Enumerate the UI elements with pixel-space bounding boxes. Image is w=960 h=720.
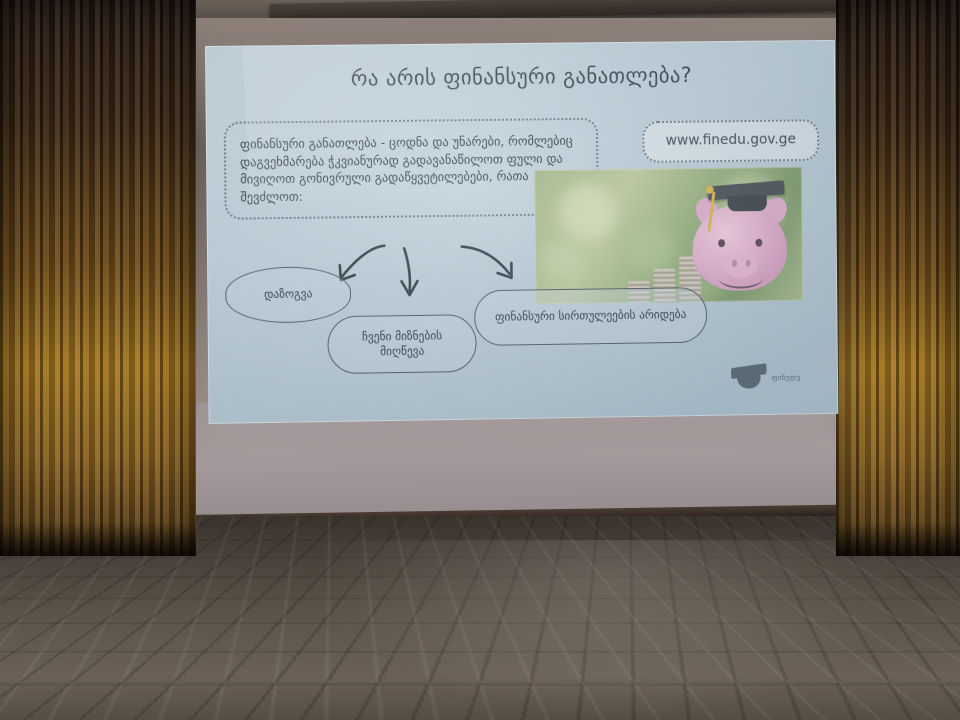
website-url-box[interactable]: www.finedu.gov.ge: [642, 119, 819, 162]
bubble-reaching-goals: ჩვენი მიზნების მიღწევა: [327, 314, 476, 374]
piggy-bank-with-graduation-cap-photo: [534, 167, 803, 304]
graduation-cap-base: [728, 195, 767, 211]
curtain-left-hem: [0, 522, 196, 556]
bubble-saving: დაზოგვა: [225, 266, 351, 324]
finedu-logo: ფინედუ: [731, 359, 829, 396]
bokeh-light: [629, 226, 675, 272]
bubble-avoiding-difficulties: ფინანსური სირთულეების არიდება: [474, 287, 707, 346]
presentation-slide: რა არის ფინანსური განათლება? ფინანსური გ…: [205, 40, 838, 424]
arrow-down-icon: [392, 245, 426, 307]
piggy-eye-right: [755, 239, 762, 247]
finedu-logo-text: ფინედუ: [771, 372, 800, 381]
piggy-eye-left: [718, 239, 725, 247]
bokeh-light: [543, 239, 583, 279]
curtain-right: [836, 0, 960, 556]
graduation-cap-knot: [706, 186, 714, 194]
bokeh-light: [558, 183, 616, 241]
graduation-cap-icon: [731, 363, 767, 391]
slide-title: რა არის ფინანსური განათლება?: [205, 62, 835, 92]
curtain-right-hem: [836, 522, 960, 556]
projection-room-scene: რა არის ფინანსური განათლება? ფინანსური გ…: [0, 0, 960, 720]
arrow-down-right-icon: [456, 242, 532, 295]
curtain-left: [0, 0, 196, 556]
projection-screen: რა არის ფინანსური განათლება? ფინანსური გ…: [205, 40, 838, 424]
graduation-cap-icon-bowl: [737, 374, 761, 388]
